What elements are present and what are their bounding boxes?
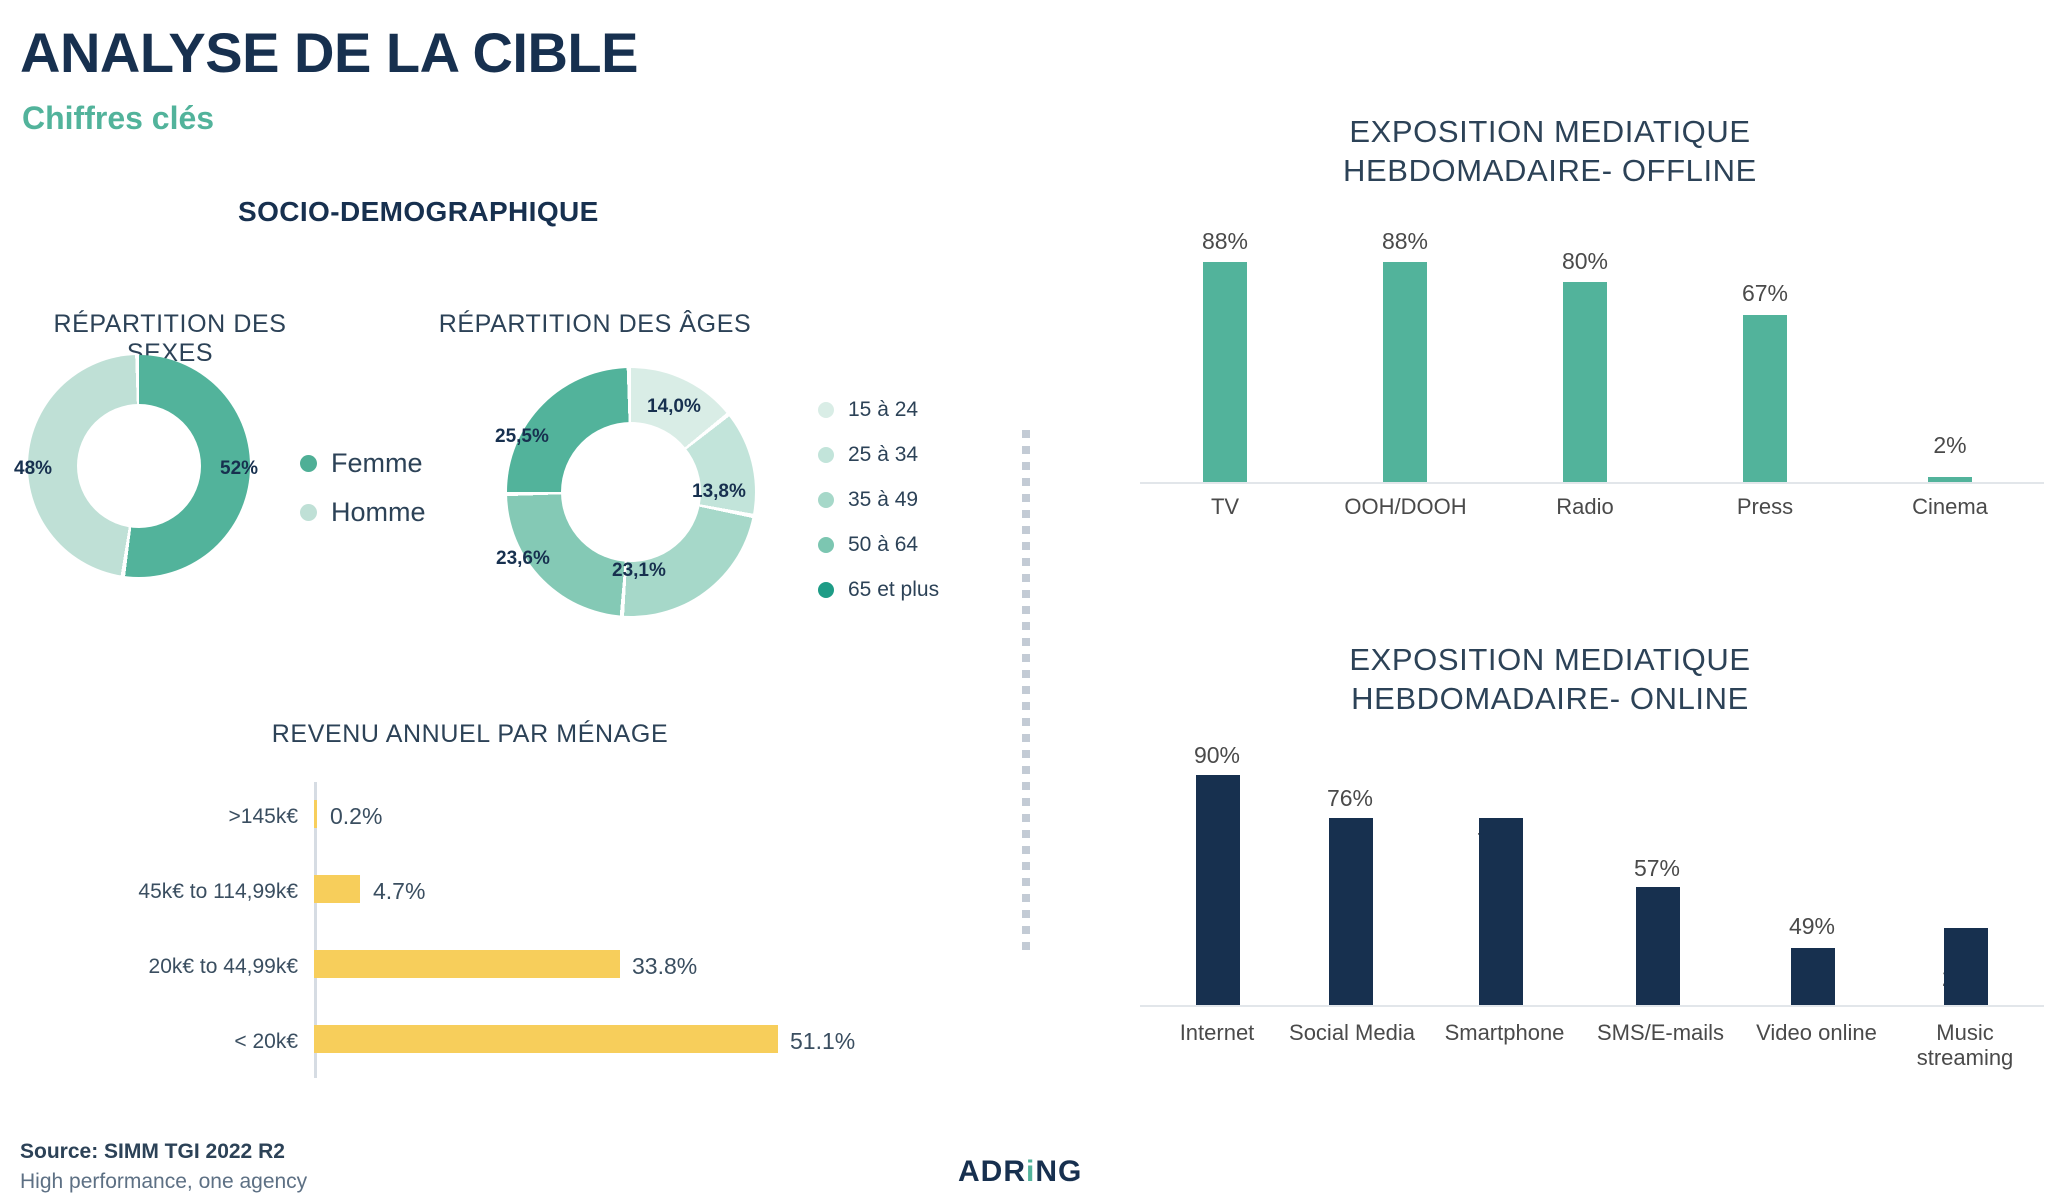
revenu-bar: [314, 950, 620, 978]
offline-value-label: 88%: [1340, 228, 1470, 255]
online-bar: [1791, 948, 1835, 1005]
online-category-label: SMS/E-mails: [1578, 1020, 1743, 1045]
revenu-bar: [314, 1025, 778, 1053]
logo-accent-letter: i: [1026, 1155, 1035, 1188]
online-bar: [1636, 887, 1680, 1005]
legend-label-25-34: 25 à 34: [848, 443, 918, 467]
page-title: ANALYSE DE LA CIBLE: [20, 24, 638, 83]
revenu-category-label: 45k€ to 114,99k€: [40, 880, 298, 904]
online-category-label: Music streaming: [1900, 1020, 2030, 1071]
revenu-bar: [314, 875, 360, 903]
legend-label-femme: Femme: [331, 448, 423, 479]
legend-label-65-plus: 65 et plus: [848, 578, 939, 602]
legend-item: 25 à 34: [818, 443, 939, 467]
offline-value-label: 2%: [1885, 432, 2015, 459]
online-bar: [1479, 818, 1523, 1005]
legend-label-35-49: 35 à 49: [848, 488, 918, 512]
online-category-label: Social Media: [1272, 1020, 1432, 1045]
legend-dot-25-34: [818, 447, 834, 463]
revenu-value-label: 33.8%: [632, 953, 697, 980]
offline-value-label: 80%: [1520, 248, 1650, 275]
footer-tagline: High performance, one agency: [20, 1170, 307, 1194]
legend-item: 15 à 24: [818, 398, 939, 422]
legend-label-homme: Homme: [331, 497, 426, 528]
offline-bar: [1743, 315, 1787, 482]
legend-dot-35-49: [818, 492, 834, 508]
footer-source: Source: SIMM TGI 2022 R2: [20, 1140, 285, 1164]
online-category-label: Smartphone: [1422, 1020, 1587, 1045]
donut-hole-ages: [561, 422, 701, 562]
section-title-socio-demographique: SOCIO-DEMOGRAPHIQUE: [238, 196, 599, 228]
donut-ring-sexes: [28, 355, 250, 577]
adring-logo: ADRiNG: [958, 1155, 1082, 1189]
offline-category-label: Radio: [1520, 494, 1650, 519]
online-bar: [1196, 775, 1240, 1005]
offline-value-label: 67%: [1700, 280, 1830, 307]
chart-title-ages: RÉPARTITION DES ÂGES: [430, 310, 760, 339]
offline-category-label: OOH/DOOH: [1323, 494, 1488, 519]
donut-slice-label-homme: 48%: [14, 458, 52, 480]
online-baseline: [1140, 1005, 2044, 1007]
legend-item: Femme: [300, 448, 426, 479]
legend-ages: 15 à 24 25 à 34 35 à 49 50 à 64 65 et pl…: [818, 398, 939, 602]
legend-dot-homme: [300, 504, 317, 521]
donut-chart-sexes: 52% 48%: [28, 355, 250, 577]
legend-dot-femme: [300, 455, 317, 472]
revenu-value-label: 4.7%: [373, 878, 425, 905]
offline-bar: [1563, 282, 1607, 482]
offline-bar: [1383, 262, 1427, 482]
donut-slice-label-50-64: 23,6%: [496, 548, 550, 570]
legend-item: 65 et plus: [818, 578, 939, 602]
revenu-category-label: >145k€: [40, 805, 298, 829]
legend-sexes: Femme Homme: [300, 448, 426, 546]
online-value-label: 57%: [1592, 855, 1722, 882]
offline-category-label: Cinema: [1885, 494, 2015, 519]
revenu-value-label: 51.1%: [790, 1028, 855, 1055]
revenu-category-label: < 20k€: [40, 1030, 298, 1054]
legend-dot-15-24: [818, 402, 834, 418]
offline-bar: [1203, 262, 1247, 482]
donut-slice-label-15-24: 14,0%: [647, 396, 701, 418]
online-category-label: Internet: [1152, 1020, 1282, 1045]
online-value-label: 49%: [1747, 913, 1877, 940]
legend-label-15-24: 15 à 24: [848, 398, 918, 422]
online-bar: [1944, 928, 1988, 1005]
donut-slice-label-femme: 52%: [220, 458, 258, 480]
offline-baseline: [1140, 482, 2044, 484]
chart-title-online: EXPOSITION MEDIATIQUE HEBDOMADAIRE- ONLI…: [1240, 640, 1860, 718]
donut-slice-label-25-34: 13,8%: [692, 481, 746, 503]
legend-item: Homme: [300, 497, 426, 528]
offline-category-label: Press: [1700, 494, 1830, 519]
donut-hole-sexes: [77, 404, 201, 528]
donut-slice-label-65-plus: 25,5%: [495, 426, 549, 448]
revenu-value-label: 0.2%: [330, 803, 382, 830]
logo-text-part2: NG: [1035, 1155, 1082, 1188]
online-value-label: 76%: [1285, 785, 1415, 812]
online-category-label: Video online: [1734, 1020, 1899, 1045]
revenu-bar: [314, 800, 317, 828]
legend-label-50-64: 50 à 64: [848, 533, 918, 557]
online-value-label: 90%: [1152, 742, 1282, 769]
legend-dot-50-64: [818, 537, 834, 553]
chart-title-revenu: REVENU ANNUEL PAR MÉNAGE: [150, 720, 790, 749]
online-bar: [1329, 818, 1373, 1005]
donut-slice-label-35-49: 23,1%: [612, 560, 666, 582]
chart-title-offline: EXPOSITION MEDIATIQUE HEBDOMADAIRE- OFFL…: [1240, 112, 1860, 190]
legend-dot-65-plus: [818, 582, 834, 598]
page-subtitle: Chiffres clés: [22, 100, 214, 137]
legend-item: 35 à 49: [818, 488, 939, 512]
offline-value-label: 88%: [1160, 228, 1290, 255]
donut-chart-ages: 14,0% 13,8% 23,1% 23,6% 25,5%: [507, 368, 755, 616]
offline-category-label: TV: [1160, 494, 1290, 519]
revenu-category-label: 20k€ to 44,99k€: [40, 955, 298, 979]
vertical-dotted-divider: [1022, 430, 1030, 950]
logo-text-part1: ADR: [958, 1155, 1026, 1188]
offline-bar: [1928, 477, 1972, 482]
legend-item: 50 à 64: [818, 533, 939, 557]
